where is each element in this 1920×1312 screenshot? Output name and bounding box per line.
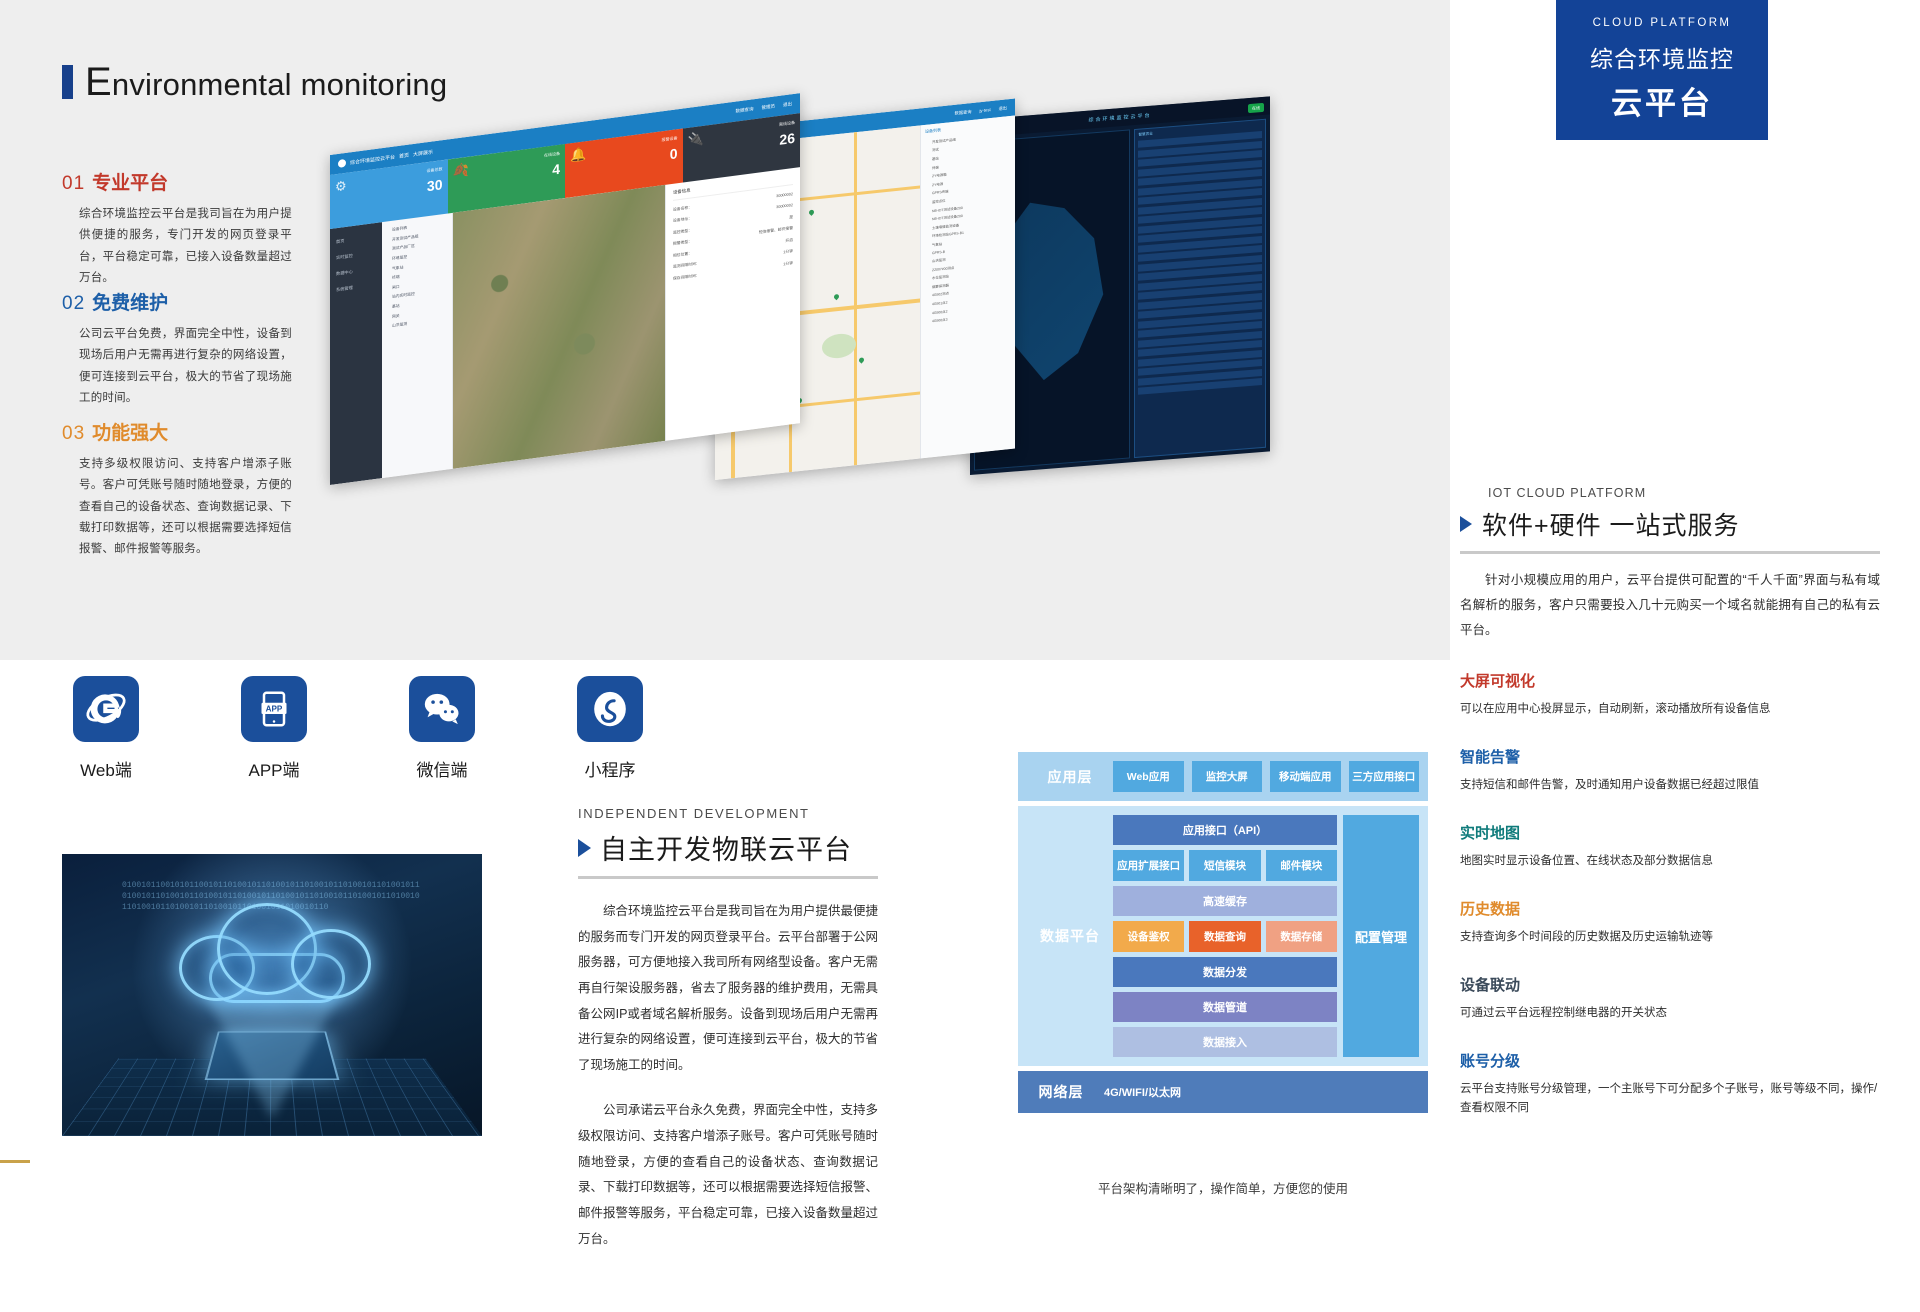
feature-title: 历史数据: [1460, 898, 1880, 919]
feature-title: 功能强大: [92, 418, 168, 445]
detail-key: 设备地址：: [673, 216, 692, 223]
feature-body: 公司云平台免费，界面完全中性，设备到现场后用户无需再进行复杂的网络设置，便可连接…: [62, 324, 292, 409]
svg-text:APP: APP: [266, 705, 283, 714]
feature-block-03: 03 功能强大 支持多级权限访问、支持客户增添子账号。客户可凭账号随时随地登录，…: [62, 418, 292, 560]
hero-chinese-line2: 云平台: [1611, 78, 1713, 123]
application-layer: 应用层 Web应用 监控大屏 移动端应用 三方应用接口: [1018, 752, 1428, 801]
sensor-label: 土壤盐分(%): [584, 478, 675, 485]
section-paragraph: 针对小规模应用的用户，云平台提供可配置的“千人千面”界面与私有域名解析的服务，客…: [1460, 568, 1880, 643]
feature-title: 免费维护: [92, 288, 168, 315]
map-tiles: [453, 185, 665, 469]
architecture-caption: 平台架构清晰明了，操作简单，方便您的使用: [1018, 1178, 1428, 1197]
feature-title: 大屏可视化: [1460, 670, 1880, 691]
feature-desc: 支持短信和邮件告警，及时通知用户设备数据已经超过限值: [1460, 776, 1880, 795]
device-detail-panel: 设备信息 设备名称：30000002 设备地址：30000002 监控类型：是 …: [665, 167, 800, 441]
layer-label: 网络层: [1018, 1082, 1104, 1102]
feature-item: 历史数据 支持查询多个时间段的历史数据及历史运输轨迹等: [1460, 898, 1880, 947]
feature-title: 账号分级: [1460, 1050, 1880, 1071]
architecture-diagram: 应用层 Web应用 监控大屏 移动端应用 三方应用接口 数据平台 应用接口（AP…: [1018, 752, 1428, 1113]
kpi-value: 30: [427, 176, 443, 194]
detail-value: 短信报警、邮件报警: [759, 226, 793, 235]
client-web: Web端: [60, 676, 152, 781]
detail-key: 保存间隔时间：: [673, 273, 700, 281]
client-label: 微信端: [396, 756, 488, 781]
module-box: 应用扩展接口: [1113, 850, 1184, 881]
brochure-page: Environmental monitoring 01 专业平台 综合环境监控云…: [0, 0, 1920, 1312]
client-wechat: 微信端: [396, 676, 488, 781]
section-paragraph-2: 公司承诺云平台永久免费，界面完全中性，支持多级权限访问、支持客户增添子账号。客户…: [578, 1098, 878, 1252]
sensor-label: 土壤EC(us/cm): [584, 448, 675, 465]
detail-value: 是: [789, 215, 793, 220]
feature-desc: 地图实时显示设备位置、在线状态及部分数据信息: [1460, 852, 1880, 871]
feature-title: 实时地图: [1460, 822, 1880, 843]
client-label: 小程序: [564, 756, 656, 781]
cache-box: 高速缓存: [1113, 886, 1337, 916]
bottom-left-accent: [0, 1160, 30, 1163]
section-eyebrow: IOT CLOUD PLATFORM: [1460, 486, 1880, 500]
screenshot-montage: 综合环境监控云平台 智慧农业 在线: [330, 120, 1440, 570]
feature-body: 支持多级权限访问、支持客户增添子账号。客户可凭账号随时随地登录，方便的查看自己的…: [62, 454, 292, 560]
ops-box: 设备鉴权: [1113, 921, 1184, 952]
detail-key: 相位位置：: [673, 251, 692, 258]
section-paragraph-1: 综合环境监控云平台是我司旨在为用户提供最便捷的服务而专门开发的网页登录平台。云平…: [578, 899, 878, 1078]
feature-title: 专业平台: [92, 168, 168, 195]
kpi-value: 4: [552, 161, 560, 178]
dashboard-brand: 综合环境监控云平台: [350, 153, 395, 166]
feature-title: 设备联动: [1460, 974, 1880, 995]
sensor-value: -221: [584, 456, 675, 474]
online-status-badge: 在线: [1248, 103, 1264, 113]
feature-number: 03: [62, 423, 85, 445]
feature-item: 大屏可视化 可以在应用中心投屏显示，自动刷新，滚动播放所有设备信息: [1460, 670, 1880, 719]
app-box: 三方应用接口: [1349, 761, 1420, 792]
detail-key: 监测间隔时间：: [673, 261, 700, 269]
sensor-card: 土壤盐分(%)34.2: [565, 472, 681, 485]
dark-panel-left: 智慧农业: [1134, 119, 1266, 458]
feature-number: 01: [62, 173, 85, 195]
right-feature-list: 大屏可视化 可以在应用中心投屏显示，自动刷新，滚动播放所有设备信息 智能告警 支…: [1460, 670, 1880, 1145]
kpi-value: 26: [779, 130, 795, 148]
mini-program-icon: [577, 676, 643, 742]
detail-key: 设备名称：: [673, 205, 692, 212]
feature-item: 智能告警 支持短信和邮件告警，及时通知用户设备数据已经超过限值: [1460, 746, 1880, 795]
client-miniprogram: 小程序: [564, 676, 656, 781]
section-title: 自主开发物联云平台: [600, 828, 852, 867]
pipeline-box: 数据管道: [1113, 992, 1337, 1022]
layer-label: 应用层: [1027, 761, 1113, 792]
topbar-item: jy-test: [979, 107, 990, 113]
feature-desc: 云平台支持账号分级管理，一个主账号下可分配多个子账号，账号等级不同，操作/查看权…: [1460, 1080, 1880, 1118]
nav-item: 首页: [399, 151, 409, 159]
satellite-map: [453, 185, 665, 469]
client-label: Web端: [60, 756, 152, 781]
logo-mark-icon: [338, 159, 346, 168]
detail-value: 开启: [785, 238, 793, 244]
section-divider: [578, 876, 878, 879]
title-accent-bar: [62, 65, 73, 99]
feature-desc: 支持查询多个时间段的历史数据及历史运输轨迹等: [1460, 928, 1880, 947]
feature-desc: 可以在应用中心投屏显示，自动刷新，滚动播放所有设备信息: [1460, 700, 1880, 719]
mobile-app-icon: APP: [241, 676, 307, 742]
iot-section: IOT CLOUD PLATFORM 软件+硬件 一站式服务 针对小规模应用的用…: [1460, 486, 1880, 643]
sensor-label: 土壤湿度(%): [468, 463, 559, 480]
topbar-item: 数据查询: [736, 106, 754, 114]
feature-block-02: 02 免费维护 公司云平台免费，界面完全中性，设备到现场后用户无需再进行复杂的网…: [62, 288, 292, 409]
topbar-item: 管理员: [762, 103, 776, 111]
screenshot-main-dashboard: 综合环境监控云平台 首页 大屏展示 数据查询 管理员 退出 ⚙ 设备总数 30 …: [330, 93, 800, 485]
hero-badge: CLOUD PLATFORM 综合环境监控 云平台: [1556, 0, 1768, 140]
dashboard-sidebar: 首页 实时监控 数据中心 系统管理: [330, 222, 382, 485]
detail-key: 监控类型：: [673, 228, 692, 235]
topbar-item: 退出: [999, 105, 1007, 112]
client-label: APP端: [228, 756, 320, 781]
hero-english: CLOUD PLATFORM: [1593, 17, 1732, 29]
detail-value: 30000002: [776, 203, 793, 210]
client-platform-row: Web端 APP APP端 微信端 小程序: [60, 676, 656, 781]
app-box: Web应用: [1113, 761, 1184, 792]
section-title: 软件+硬件 一站式服务: [1482, 506, 1740, 542]
module-box: 短信模块: [1189, 850, 1260, 881]
wechat-icon: [409, 676, 475, 742]
app-box: 监控大屏: [1192, 761, 1263, 792]
config-management-box: 配置管理: [1343, 815, 1419, 1057]
device-tree: 设备列表 开发测试产品组 测试产品厂区 环境监控 气象站 终端 闸口 站内实时监…: [382, 213, 453, 478]
ingest-box: 数据接入: [1113, 1027, 1337, 1057]
page-title: Environmental monitoring: [62, 62, 447, 102]
network-value: 4G/WIFI/以太网: [1104, 1084, 1181, 1100]
feature-item: 实时地图 地图实时显示设备位置、在线状态及部分数据信息: [1460, 822, 1880, 871]
kpi-value: 0: [670, 145, 678, 162]
detail-key: 报警类型：: [673, 239, 692, 246]
module-box: 邮件模块: [1266, 850, 1337, 881]
page-title-initial: E: [85, 60, 112, 104]
hero-chinese-line1: 综合环境监控: [1590, 40, 1734, 74]
device-list-panel: 设备列表 开发测试产品组 测试 基站 终端 ZY电源箱 ZY电源 GPRS终端 …: [920, 115, 1015, 458]
data-platform-layer: 数据平台 应用接口（API） 应用扩展接口 短信模块 邮件模块 高速缓存 设备鉴…: [1018, 806, 1428, 1066]
detail-value: 1分钟: [783, 249, 793, 255]
feature-desc: 可通过云平台远程控制继电器的开关状态: [1460, 1004, 1880, 1023]
detail-value: 1分钟: [783, 261, 793, 267]
cloud-outline-icon: [169, 891, 375, 1003]
cloud-technology-photo: 0100101100101011001011010010110100101101…: [62, 854, 482, 1136]
ops-box: 数据查询: [1189, 921, 1260, 952]
sensor-value: 38.7: [468, 471, 559, 485]
screenshot-dark-dashboard: 综合环境监控云平台 智慧农业 在线: [970, 96, 1270, 475]
topbar-item: 数据查询: [955, 109, 972, 117]
independent-development-section: INDEPENDENT DEVELOPMENT 自主开发物联云平台 综合环境监控…: [578, 806, 878, 1252]
feature-body: 综合环境监控云平台是我司旨在为用户提供便捷的服务，专门开发的网页登录平台，平台稳…: [62, 204, 292, 289]
app-box: 移动端应用: [1270, 761, 1341, 792]
page-title-rest: nvironmental monitoring: [112, 67, 447, 102]
feature-item: 账号分级 云平台支持账号分级管理，一个主账号下可分配多个子账号，账号等级不同，操…: [1460, 1050, 1880, 1118]
detail-value: 30000002: [776, 192, 793, 199]
feature-block-01: 01 专业平台 综合环境监控云平台是我司旨在为用户提供便捷的服务，专门开发的网页…: [62, 168, 292, 289]
network-layer: 网络层 4G/WIFI/以太网: [1018, 1071, 1428, 1113]
layer-label: 数据平台: [1027, 815, 1113, 1057]
ie-browser-icon: [73, 676, 139, 742]
topbar-item: 退出: [783, 101, 792, 108]
api-box: 应用接口（API）: [1113, 815, 1337, 845]
triangle-bullet-icon: [578, 839, 591, 857]
feature-title: 智能告警: [1460, 746, 1880, 767]
ops-box: 数据存储: [1266, 921, 1337, 952]
nav-item: 大屏展示: [413, 148, 433, 158]
feature-item: 设备联动 可通过云平台远程控制继电器的开关状态: [1460, 974, 1880, 1023]
client-app: APP APP端: [228, 676, 320, 781]
section-divider: [1460, 551, 1880, 554]
triangle-bullet-icon: [1460, 516, 1472, 532]
section-eyebrow: INDEPENDENT DEVELOPMENT: [578, 806, 878, 821]
feature-number: 02: [62, 293, 85, 315]
distribute-box: 数据分发: [1113, 957, 1337, 987]
